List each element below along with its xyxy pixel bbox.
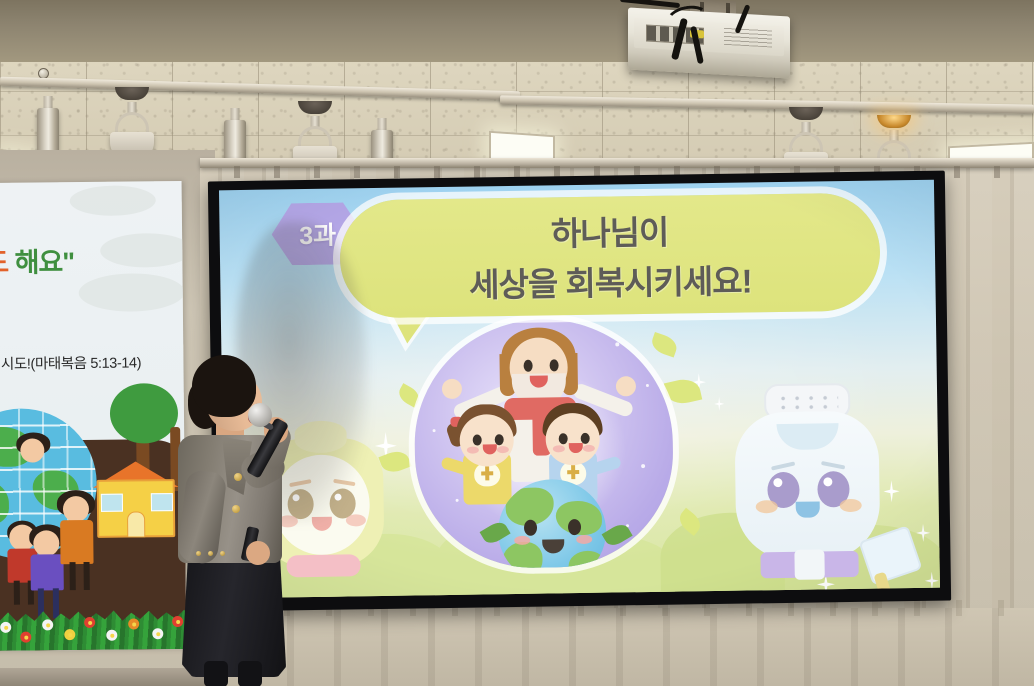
banner-flower-icon	[84, 617, 95, 628]
banner-flower-icon	[64, 629, 75, 640]
banner-scripture-reference: 선한 시도!(마태복음 5:13-14)	[0, 351, 141, 374]
wall-curtain-lower	[200, 608, 1034, 686]
banner-line2-green: 해요"	[14, 247, 74, 278]
jacket-button	[232, 505, 240, 513]
banner-flower-icon	[128, 618, 139, 629]
slide-title-line1: 하나님이	[551, 206, 669, 256]
slide-title: 하나님이 세상을 회복시키세요!	[339, 193, 881, 319]
jesus-hand-right	[616, 376, 636, 396]
banner-flower-icon	[0, 622, 11, 633]
lesson-badge-label: 3과	[299, 216, 336, 253]
banner-flower-icon	[42, 619, 53, 630]
presenter-leg	[238, 661, 262, 686]
mascot-buckle	[794, 549, 824, 579]
projector-label	[724, 27, 772, 48]
banner-school-window	[101, 494, 123, 512]
slide-title-line2: 세상을 회복시키세요!	[469, 254, 752, 306]
projection-screen: 3과 하나님이 세상을 회복시키세요!	[219, 180, 940, 599]
wall-banner: 해 시도 해요" Light 선한 시도!(마태복음 5:13-14)	[0, 181, 186, 651]
jacket-button	[234, 473, 242, 481]
presenter-hand-lower	[246, 541, 270, 565]
slide-central-illustration	[413, 318, 675, 570]
presenter-woman	[160, 355, 320, 686]
banner-line2-orange: 시도	[0, 248, 8, 278]
jesus-eye	[524, 360, 533, 372]
banner-flower-icon	[106, 630, 117, 641]
jacket-cuff-button	[220, 551, 225, 556]
banner-line2: 시도 해요"	[0, 240, 74, 280]
presenter-leg	[204, 661, 228, 686]
jesus-eye	[550, 359, 559, 371]
banner-cloud-icon	[70, 185, 156, 216]
banner-flower-icon	[20, 632, 31, 643]
jacket-cuff-button	[208, 551, 213, 556]
presenter-hair	[192, 355, 256, 417]
banner-school-door	[127, 511, 145, 537]
jacket-cuff-button	[196, 551, 201, 556]
jesus-hand-left	[442, 379, 462, 399]
presenter-skirt	[182, 551, 286, 677]
presentation-room-photo: 해 시도 해요" Light 선한 시도!(마태복음 5:13-14)	[0, 0, 1034, 686]
ceiling-soffit-band	[0, 0, 1034, 62]
banner-cloud-icon	[100, 233, 186, 268]
microphone-head-icon	[248, 403, 272, 427]
banner-cloud-icon	[79, 273, 185, 312]
